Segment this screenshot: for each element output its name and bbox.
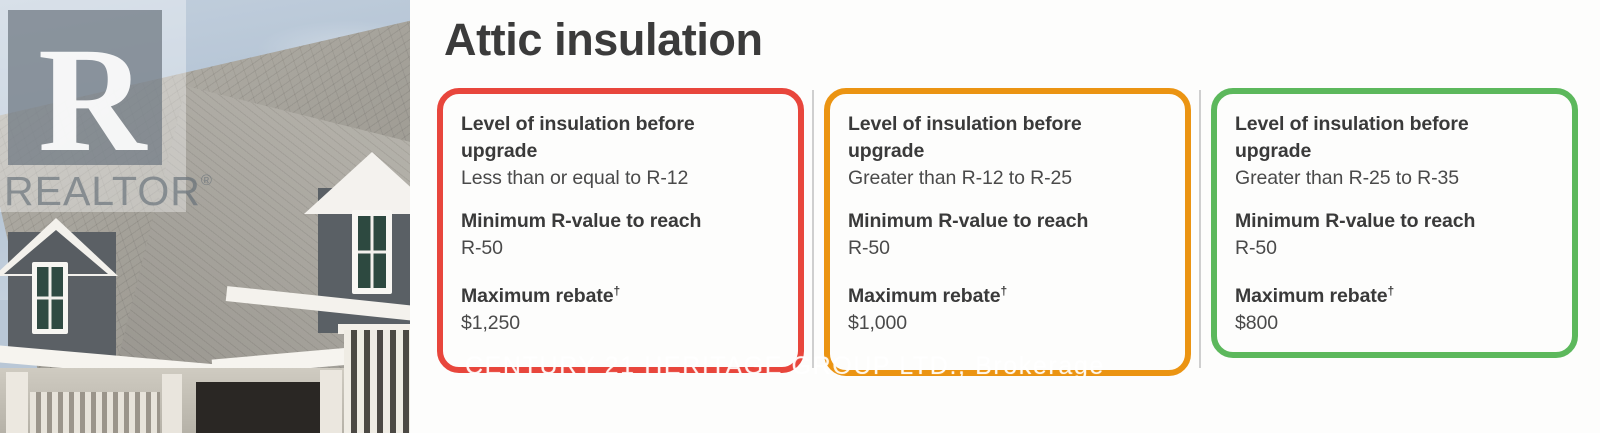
field-label-minimum-r: Minimum R-value to reach (461, 208, 776, 235)
page-title: Attic insulation (444, 14, 763, 66)
field-value-minimum-r: R-50 (461, 235, 776, 262)
insulation-card-orange[interactable]: Level of insulation before upgrade Great… (824, 88, 1191, 376)
maximum-rebate-text: Maximum rebate (1235, 285, 1388, 307)
card-slot-2: Level of insulation before upgrade Great… (804, 88, 1191, 378)
field-value-level-before: Greater than R-12 to R-25 (848, 165, 1163, 192)
field-label-maximum-rebate: Maximum rebate† (848, 278, 1163, 310)
field-label-level-before: Level of insulation before upgrade (1235, 111, 1550, 165)
field-value-maximum-rebate: $1,000 (848, 310, 1163, 337)
field-maximum-rebate: Maximum rebate† $1,000 (848, 278, 1163, 337)
dagger-icon: † (614, 284, 621, 298)
window-right (352, 210, 392, 294)
field-value-level-before: Less than or equal to R-12 (461, 165, 776, 192)
field-minimum-r: Minimum R-value to reach R-50 (1235, 208, 1550, 262)
field-label-level-before: Level of insulation before upgrade (848, 111, 1163, 165)
field-level-before: Level of insulation before upgrade Less … (461, 111, 776, 192)
screenshot-root: R REALTOR® Attic insulation Level of ins… (0, 0, 1600, 433)
field-minimum-r: Minimum R-value to reach R-50 (848, 208, 1163, 262)
field-value-maximum-rebate: $800 (1235, 310, 1550, 337)
field-value-minimum-r: R-50 (1235, 235, 1550, 262)
insulation-card-green[interactable]: Level of insulation before upgrade Great… (1211, 88, 1578, 358)
window-left (32, 262, 68, 334)
field-level-before: Level of insulation before upgrade Great… (848, 111, 1163, 192)
card-divider (812, 90, 814, 368)
dagger-icon: † (1388, 284, 1395, 298)
field-value-maximum-rebate: $1,250 (461, 310, 776, 337)
maximum-rebate-text: Maximum rebate (461, 285, 614, 307)
maximum-rebate-text: Maximum rebate (848, 285, 1001, 307)
field-label-minimum-r: Minimum R-value to reach (848, 208, 1163, 235)
insulation-card-red[interactable]: Level of insulation before upgrade Less … (437, 88, 804, 373)
porch-railing (30, 392, 160, 433)
field-label-minimum-r: Minimum R-value to reach (1235, 208, 1550, 235)
field-label-maximum-rebate: Maximum rebate† (461, 278, 776, 310)
porch-post (320, 370, 342, 433)
dormer-right-roof (304, 152, 410, 214)
insulation-tier-cards: Level of insulation before upgrade Less … (437, 88, 1578, 378)
field-value-level-before: Greater than R-25 to R-35 (1235, 165, 1550, 192)
content-panel: Attic insulation Level of insulation bef… (410, 0, 1600, 433)
field-maximum-rebate: Maximum rebate† $800 (1235, 278, 1550, 337)
porch-railing (344, 330, 410, 433)
card-slot-1: Level of insulation before upgrade Less … (437, 88, 804, 378)
field-label-maximum-rebate: Maximum rebate† (1235, 278, 1550, 310)
field-level-before: Level of insulation before upgrade Great… (1235, 111, 1550, 192)
field-value-minimum-r: R-50 (848, 235, 1163, 262)
field-minimum-r: Minimum R-value to reach R-50 (461, 208, 776, 262)
porch-post (6, 372, 28, 433)
field-maximum-rebate: Maximum rebate† $1,250 (461, 278, 776, 337)
field-label-level-before: Level of insulation before upgrade (461, 111, 776, 165)
dagger-icon: † (1001, 284, 1008, 298)
card-slot-3: Level of insulation before upgrade Great… (1191, 88, 1578, 378)
house-roof-photo: R REALTOR® (0, 0, 410, 433)
porch-post (162, 374, 182, 433)
porch-shadow (196, 382, 326, 433)
card-divider (1199, 90, 1201, 368)
